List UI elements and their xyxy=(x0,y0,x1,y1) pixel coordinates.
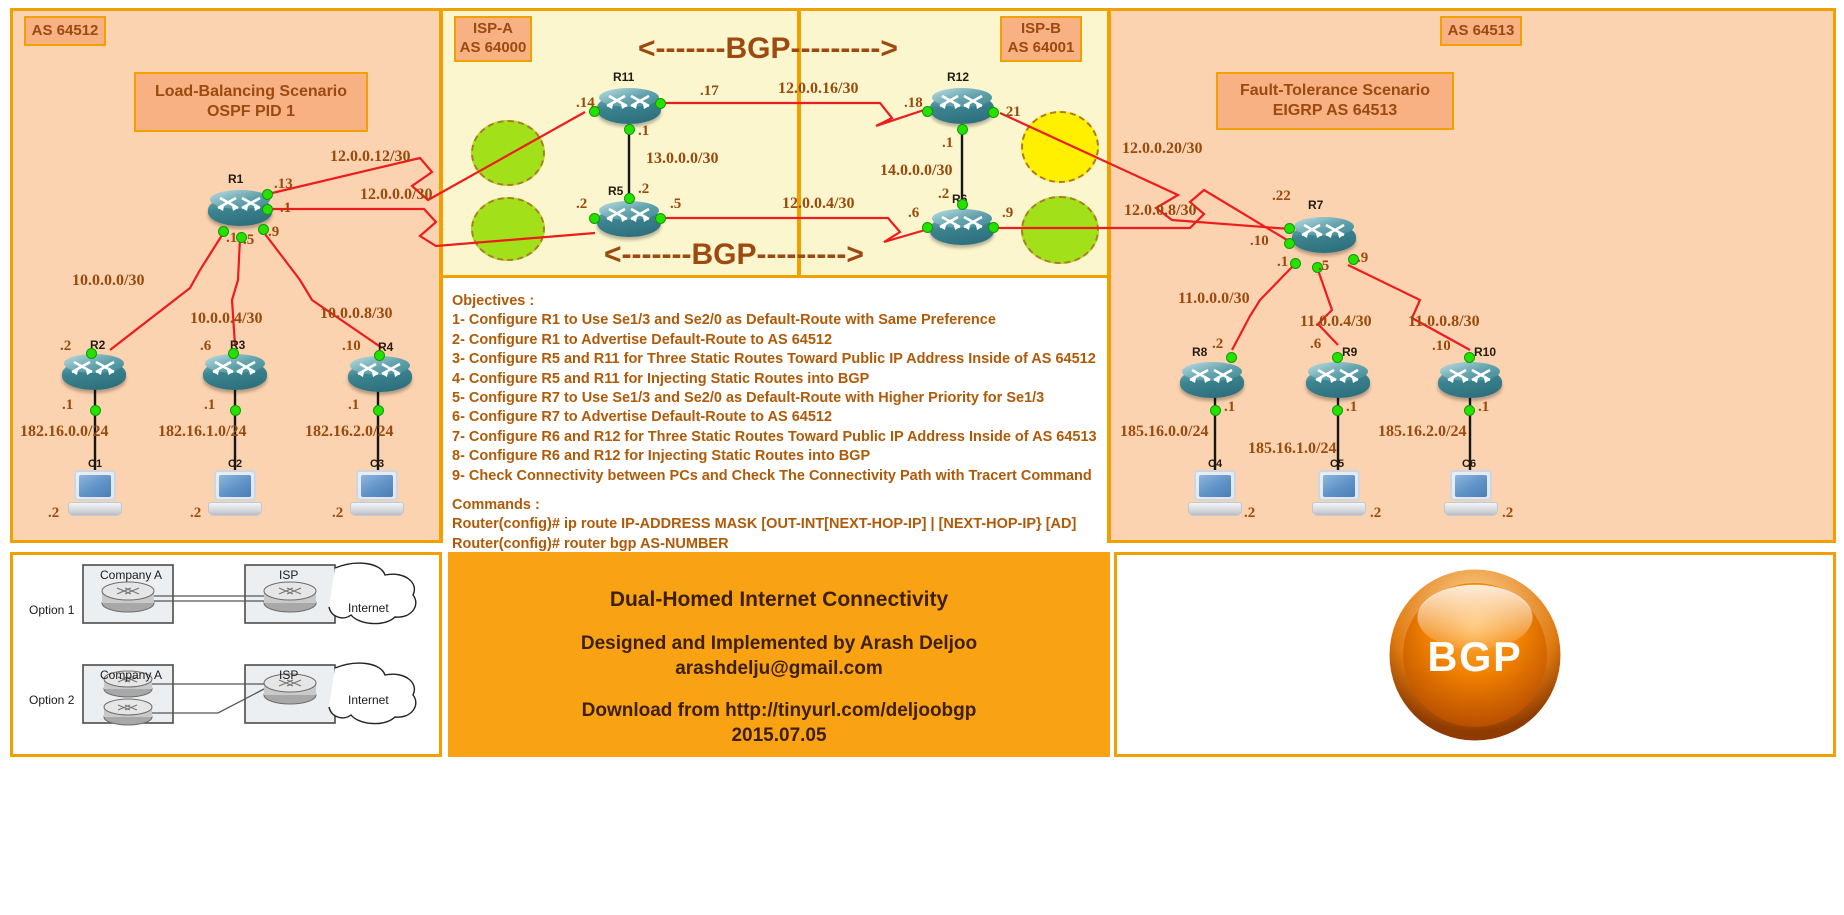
r11-ip-1: .1 xyxy=(638,123,649,140)
r3-ip-6: .6 xyxy=(200,338,211,355)
router-arrows-icon xyxy=(1438,364,1502,390)
net-11-0-0-8: 11.0.0.8/30 xyxy=(1408,313,1480,331)
pc-c4[interactable] xyxy=(1188,470,1242,518)
credit-download: Download from http://tinyurl.com/deljoob… xyxy=(451,700,1107,722)
r11-ip-17: .17 xyxy=(700,83,719,100)
router-r12-name: R12 xyxy=(947,70,969,84)
pc-c4-name: C4 xyxy=(1208,458,1222,470)
isp-a-blob-bottom xyxy=(471,197,545,261)
r4-ip-10: .10 xyxy=(342,338,361,355)
objectives-block: Objectives : 1- Configure R1 to Use Se1/… xyxy=(452,292,1097,486)
commands-heading: Commands : xyxy=(452,496,1076,515)
option2-isp-label: ISP xyxy=(279,668,298,682)
isp-a-blob-top xyxy=(471,120,545,186)
as-tag-64513-label: AS 64513 xyxy=(1448,22,1515,41)
pc-c1-name: C1 xyxy=(88,458,102,470)
c2-ip: .2 xyxy=(190,505,201,522)
pc-c5[interactable] xyxy=(1312,470,1366,518)
net-10-0-0-4: 10.0.0.4/30 xyxy=(190,310,262,328)
r7-ip-a: .1 xyxy=(1277,254,1288,271)
r6-port-6[interactable] xyxy=(922,222,933,233)
r12-ip-18: .18 xyxy=(904,95,923,112)
r1-ip-c: .9 xyxy=(268,224,279,241)
objective-item: 7- Configure R6 and R12 for Three Static… xyxy=(452,428,1097,447)
r1-ip-b: .5 xyxy=(243,232,254,249)
net-12-0-0-8: 12.0.0.8/30 xyxy=(1124,202,1196,220)
r10-port-down[interactable] xyxy=(1464,405,1475,416)
r2-ip-1: .1 xyxy=(62,397,73,414)
r12-ip-21: .21 xyxy=(1002,104,1021,121)
r5-ip-2-up: .2 xyxy=(638,181,649,198)
pc-glass xyxy=(79,475,111,497)
net-182-16-1-0: 182.16.1.0/24 xyxy=(158,423,246,441)
objectives-heading: Objectives : xyxy=(452,292,1097,311)
option1-internet-label: Internet xyxy=(348,601,389,615)
isp-b-tag: ISP-B AS 64001 xyxy=(1000,16,1082,62)
r5-port-5[interactable] xyxy=(655,213,666,224)
scenario-ft-line1: Fault-Tolerance Scenario xyxy=(1240,81,1430,101)
router-r9[interactable] xyxy=(1306,360,1370,404)
option1-label: Option 1 xyxy=(29,603,74,617)
pc-base xyxy=(208,502,262,516)
credit-title: Dual-Homed Internet Connectivity xyxy=(451,588,1107,612)
isp-b-blob-top xyxy=(1021,111,1099,183)
bgp-arrow-right: <-------BGP---------> xyxy=(604,238,864,272)
objective-item: 5- Configure R7 to Use Se1/3 and Se2/0 a… xyxy=(452,389,1097,408)
objective-item: 2- Configure R1 to Advertise Default-Rou… xyxy=(452,331,1097,350)
c4-ip: .2 xyxy=(1244,505,1255,522)
r10-ip-1: .1 xyxy=(1478,399,1489,416)
panel-credits: Dual-Homed Internet Connectivity Designe… xyxy=(448,552,1110,757)
r7-ip-b: .5 xyxy=(1318,258,1329,275)
credit-email: arashdelju@gmail.com xyxy=(451,658,1107,680)
r1-ip-1: .1 xyxy=(280,200,291,217)
objective-item: 3- Configure R5 and R11 for Three Static… xyxy=(452,350,1097,369)
pc-c3-name: C3 xyxy=(370,458,384,470)
r3-port-up[interactable] xyxy=(228,348,239,359)
panel-logo: BGP xyxy=(1114,552,1836,757)
isp-b-name: ISP-B xyxy=(1021,20,1061,39)
scenario-lb-line1: Load-Balancing Scenario xyxy=(155,82,347,102)
pc-glass xyxy=(219,475,251,497)
router-r7-name: R7 xyxy=(1308,198,1323,212)
option2-label: Option 2 xyxy=(29,693,74,707)
r7-port-a[interactable] xyxy=(1290,258,1301,269)
objective-item: 8- Configure R6 and R12 for Injecting St… xyxy=(452,447,1097,466)
option-diagram-svg xyxy=(13,555,439,754)
c3-ip: .2 xyxy=(332,505,343,522)
objective-item: 9- Check Connectivity between PCs and Ch… xyxy=(452,467,1097,486)
net-11-0-0-4: 11.0.0.4/30 xyxy=(1300,313,1372,331)
router-r5[interactable] xyxy=(597,199,661,243)
pc-glass xyxy=(1323,475,1355,497)
net-10-0-0-0: 10.0.0.0/30 xyxy=(72,272,144,290)
pc-screen xyxy=(214,470,256,501)
bgp-arrow-left: <-------BGP---------> xyxy=(638,32,898,66)
r4-port-down[interactable] xyxy=(373,405,384,416)
r4-port-up[interactable] xyxy=(374,350,385,361)
c1-ip: .2 xyxy=(48,505,59,522)
r7-port-10[interactable] xyxy=(1284,238,1295,249)
r5-port-up[interactable] xyxy=(624,193,635,204)
isp-a-as: AS 64000 xyxy=(460,39,527,58)
r8-port-up[interactable] xyxy=(1226,352,1237,363)
r11-port-1[interactable] xyxy=(624,124,635,135)
isp-a-name: ISP-A xyxy=(473,20,513,39)
r10-ip-10: .10 xyxy=(1432,338,1451,355)
r10-port-up[interactable] xyxy=(1464,352,1475,363)
scenario-ft-line2: EIGRP AS 64513 xyxy=(1273,101,1398,121)
router-r8-name: R8 xyxy=(1192,345,1207,359)
r7-ip-22: .22 xyxy=(1272,188,1291,205)
router-r2[interactable] xyxy=(62,352,126,396)
pc-c6[interactable] xyxy=(1444,470,1498,518)
r11-ip-14: .14 xyxy=(576,95,595,112)
pc-screen xyxy=(1450,470,1492,501)
option1-company-label: Company A xyxy=(100,568,162,582)
r5-ip-2: .2 xyxy=(576,196,587,213)
net-13-0-0-0: 13.0.0.0/30 xyxy=(646,150,718,168)
pc-base xyxy=(1444,502,1498,516)
net-185-16-1-0: 185.16.1.0/24 xyxy=(1248,440,1336,458)
r1-port-13[interactable] xyxy=(262,189,273,200)
r6-ip-9: .9 xyxy=(1002,205,1013,222)
router-r10-name: R10 xyxy=(1474,345,1496,359)
r5-port-2[interactable] xyxy=(589,213,600,224)
r9-port-down[interactable] xyxy=(1332,405,1343,416)
r1-ip-13: .13 xyxy=(274,176,293,193)
pc-c2[interactable] xyxy=(208,470,262,518)
net-185-16-0-0: 185.16.0.0/24 xyxy=(1120,423,1208,441)
r5-ip-5: .5 xyxy=(670,196,681,213)
r6-ip-6: .6 xyxy=(908,205,919,222)
router-arrows-icon xyxy=(930,211,994,237)
r6-port-up[interactable] xyxy=(957,199,968,210)
pc-base xyxy=(350,502,404,516)
scenario-box-load-balancing: Load-Balancing Scenario OSPF PID 1 xyxy=(134,72,368,132)
pc-glass xyxy=(1455,475,1487,497)
bgp-logo-wrap: BGP xyxy=(1117,555,1833,754)
r3-ip-1: .1 xyxy=(204,397,215,414)
router-r9-name: R9 xyxy=(1342,345,1357,359)
router-r7[interactable] xyxy=(1292,215,1356,259)
net-185-16-2-0: 185.16.2.0/24 xyxy=(1378,423,1466,441)
pc-c5-name: C5 xyxy=(1330,458,1344,470)
r6-port-9[interactable] xyxy=(988,222,999,233)
r2-port-up[interactable] xyxy=(86,348,97,359)
option1-isp-label: ISP xyxy=(279,568,298,582)
pc-glass xyxy=(361,475,393,497)
router-r10[interactable] xyxy=(1438,360,1502,404)
net-14-0-0-0: 14.0.0.0/30 xyxy=(880,162,952,180)
r9-port-up[interactable] xyxy=(1332,352,1343,363)
r6-ip-2: .2 xyxy=(938,186,949,203)
isp-a-tag: ISP-A AS 64000 xyxy=(454,16,532,62)
router-arrows-icon xyxy=(348,358,412,384)
pc-base xyxy=(68,502,122,516)
r7-port-22[interactable] xyxy=(1284,223,1295,234)
credit-date: 2015.07.05 xyxy=(451,725,1107,747)
scenario-box-fault-tolerance: Fault-Tolerance Scenario EIGRP AS 64513 xyxy=(1216,72,1454,130)
pc-base xyxy=(1312,502,1366,516)
r12-port-21[interactable] xyxy=(988,107,999,118)
pc-c3[interactable] xyxy=(350,470,404,518)
c6-ip: .2 xyxy=(1502,505,1513,522)
isp-b-blob-bottom xyxy=(1021,196,1099,264)
r8-port-down[interactable] xyxy=(1210,405,1221,416)
option2-company-label: Company A xyxy=(100,668,162,682)
net-12-0-0-12: 12.0.0.12/30 xyxy=(330,148,410,166)
r11-port-17[interactable] xyxy=(655,98,666,109)
router-r1-name: R1 xyxy=(228,172,243,186)
credit-author: Designed and Implemented by Arash Deljoo xyxy=(451,633,1107,655)
c5-ip: .2 xyxy=(1370,505,1381,522)
pc-glass xyxy=(1199,475,1231,497)
pc-c2-name: C2 xyxy=(228,458,242,470)
router-arrows-icon xyxy=(1180,364,1244,390)
router-r8[interactable] xyxy=(1180,360,1244,404)
r3-port-down[interactable] xyxy=(230,405,241,416)
net-182-16-2-0: 182.16.2.0/24 xyxy=(305,423,393,441)
net-11-0-0-0: 11.0.0.0/30 xyxy=(1178,290,1250,308)
pc-screen xyxy=(74,470,116,501)
router-r11-name: R11 xyxy=(613,70,634,84)
as-tag-64513: AS 64513 xyxy=(1440,16,1522,46)
diagram-canvas: AS 64512 Load-Balancing Scenario OSPF PI… xyxy=(0,0,1844,915)
pc-screen xyxy=(356,470,398,501)
router-arrows-icon xyxy=(1306,364,1370,390)
router-arrows-icon xyxy=(930,90,994,116)
panel-option-diagram: Option 1 Company A ISP Internet Option 2… xyxy=(10,552,442,757)
r9-ip-6: .6 xyxy=(1310,336,1321,353)
router-arrows-icon xyxy=(597,203,661,229)
pc-screen xyxy=(1318,470,1360,501)
r7-ip-10: .10 xyxy=(1250,233,1269,250)
option2-internet-label: Internet xyxy=(348,693,389,707)
net-182-16-0-0: 182.16.0.0/24 xyxy=(20,423,108,441)
objective-item: 1- Configure R1 to Use Se1/3 and Se2/0 a… xyxy=(452,311,1097,330)
net-12-0-0-20: 12.0.0.20/30 xyxy=(1122,140,1202,158)
router-arrows-icon xyxy=(62,356,126,382)
r7-ip-c: .9 xyxy=(1357,250,1368,267)
objective-item: 4- Configure R5 and R11 for Injecting St… xyxy=(452,370,1097,389)
net-12-0-0-4: 12.0.0.4/30 xyxy=(782,195,854,213)
router-r6[interactable] xyxy=(930,207,994,251)
as-tag-64512-label: AS 64512 xyxy=(32,22,99,41)
r12-port-18[interactable] xyxy=(922,106,933,117)
bgp-logo-icon: BGP xyxy=(1385,565,1565,745)
isp-b-as: AS 64001 xyxy=(1008,39,1075,58)
router-arrows-icon xyxy=(203,356,267,382)
pc-base xyxy=(1188,502,1242,516)
scenario-lb-line2: OSPF PID 1 xyxy=(207,102,295,122)
r1-ip-a: .1 xyxy=(226,230,237,247)
r4-ip-1: .1 xyxy=(348,397,359,414)
r8-ip-2: .2 xyxy=(1212,336,1223,353)
r1-port-1[interactable] xyxy=(262,204,273,215)
svg-text:BGP: BGP xyxy=(1427,634,1522,680)
router-r5-name: R5 xyxy=(608,184,623,198)
r2-ip-2: .2 xyxy=(60,338,71,355)
net-10-0-0-8: 10.0.0.8/30 xyxy=(320,305,392,323)
as-tag-64512: AS 64512 xyxy=(24,16,106,46)
r2-port-down[interactable] xyxy=(90,405,101,416)
pc-c6-name: C6 xyxy=(1462,458,1476,470)
r12-ip-1: .1 xyxy=(942,135,953,152)
router-arrows-icon xyxy=(597,90,661,116)
r9-ip-1: .1 xyxy=(1346,399,1357,416)
command-item: Router(config)# ip route IP-ADDRESS MASK… xyxy=(452,515,1076,534)
r12-port-1[interactable] xyxy=(957,124,968,135)
router-arrows-icon xyxy=(1292,219,1356,245)
net-12-0-0-0: 12.0.0.0/30 xyxy=(360,186,432,204)
pc-c1[interactable] xyxy=(68,470,122,518)
net-12-0-0-16: 12.0.0.16/30 xyxy=(778,80,858,98)
r8-ip-1: .1 xyxy=(1224,399,1235,416)
objective-item: 6- Configure R7 to Advertise Default-Rou… xyxy=(452,408,1097,427)
pc-screen xyxy=(1194,470,1236,501)
